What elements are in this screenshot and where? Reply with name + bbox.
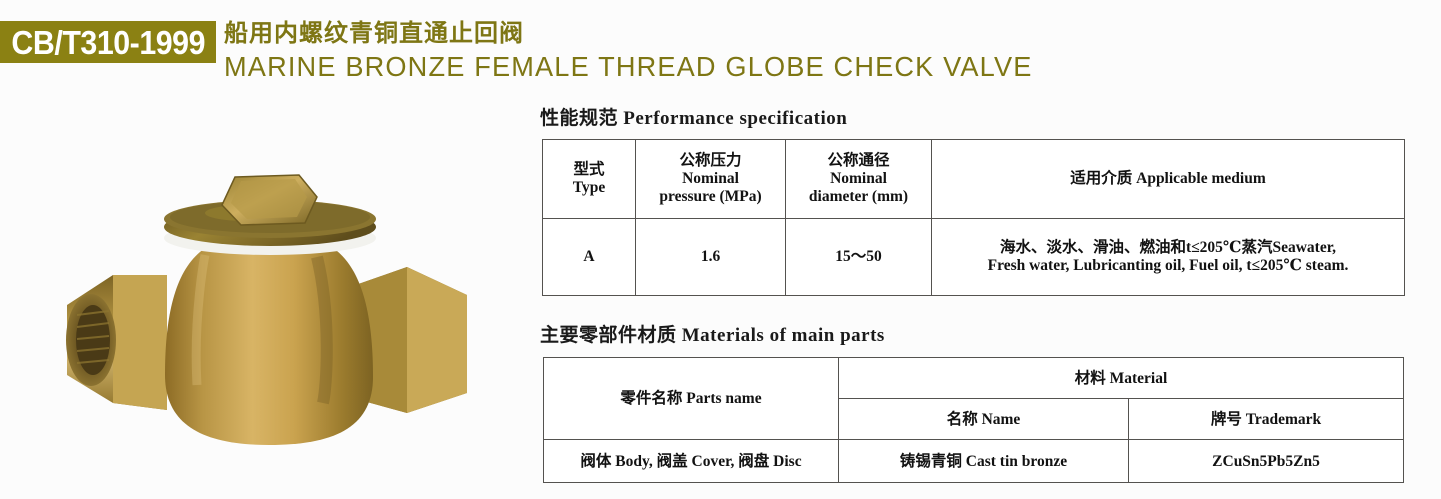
table-row: A 1.6 15～50 海水、淡水、滑油、燃油和t≤205℃蒸汽Seawater… [543, 219, 1405, 296]
header-parts-name: 零件名称 Parts name [544, 358, 839, 440]
performance-specification-table: 型式 Type 公称压力 Nominal pressure (MPa) 公称通径… [542, 139, 1405, 296]
standard-number-label: CB/T310-1999 [11, 26, 205, 59]
header-nominal-pressure: 公称压力 Nominal pressure (MPa) [636, 140, 786, 219]
valve-left-end [66, 275, 167, 410]
valve-body [165, 237, 373, 445]
performance-specification-caption: 性能规范 Performance specification [540, 103, 847, 130]
value-nominal-diameter: 15～50 [786, 219, 932, 296]
table-row: 型式 Type 公称压力 Nominal pressure (MPa) 公称通径… [543, 140, 1405, 219]
valve-hex-nut [222, 175, 317, 225]
check-valve-illustration [55, 145, 475, 445]
value-type: A [543, 219, 636, 296]
table-row: 阀体 Body, 阀盖 Cover, 阀盘 Disc 铸锡青铜 Cast tin… [544, 440, 1404, 483]
value-parts-name: 阀体 Body, 阀盖 Cover, 阀盘 Disc [544, 440, 839, 483]
page-header: CB/T310-1999 船用内螺纹青铜直通止回阀 MARINE BRONZE … [0, 0, 1441, 95]
standard-number-badge: CB/T310-1999 [0, 21, 216, 63]
header-material-trademark: 牌号 Trademark [1129, 399, 1404, 440]
header-nominal-diameter: 公称通径 Nominal diameter (mm) [786, 140, 932, 219]
materials-of-main-parts-table: 零件名称 Parts name 材料 Material 名称 Name 牌号 T… [543, 357, 1404, 483]
materials-of-main-parts-caption: 主要零部件材质 Materials of main parts [540, 320, 885, 347]
value-nominal-pressure: 1.6 [636, 219, 786, 296]
product-title-block: 船用内螺纹青铜直通止回阀 MARINE BRONZE FEMALE THREAD… [224, 20, 1324, 84]
value-material-name: 铸锡青铜 Cast tin bronze [839, 440, 1129, 483]
value-material-trademark: ZCuSn5Pb5Zn5 [1129, 440, 1404, 483]
value-applicable-medium: 海水、淡水、滑油、燃油和t≤205℃蒸汽Seawater, Fresh wate… [932, 219, 1405, 296]
table-row: 零件名称 Parts name 材料 Material [544, 358, 1404, 399]
header-applicable-medium: 适用介质 Applicable medium [932, 140, 1405, 219]
product-photo [55, 145, 475, 445]
product-title-chinese: 船用内螺纹青铜直通止回阀 [224, 20, 1324, 46]
header-type: 型式 Type [543, 140, 636, 219]
product-title-english: MARINE BRONZE FEMALE THREAD GLOBE CHECK … [224, 50, 1291, 84]
header-material-name: 名称 Name [839, 399, 1129, 440]
header-material: 材料 Material [839, 358, 1404, 399]
